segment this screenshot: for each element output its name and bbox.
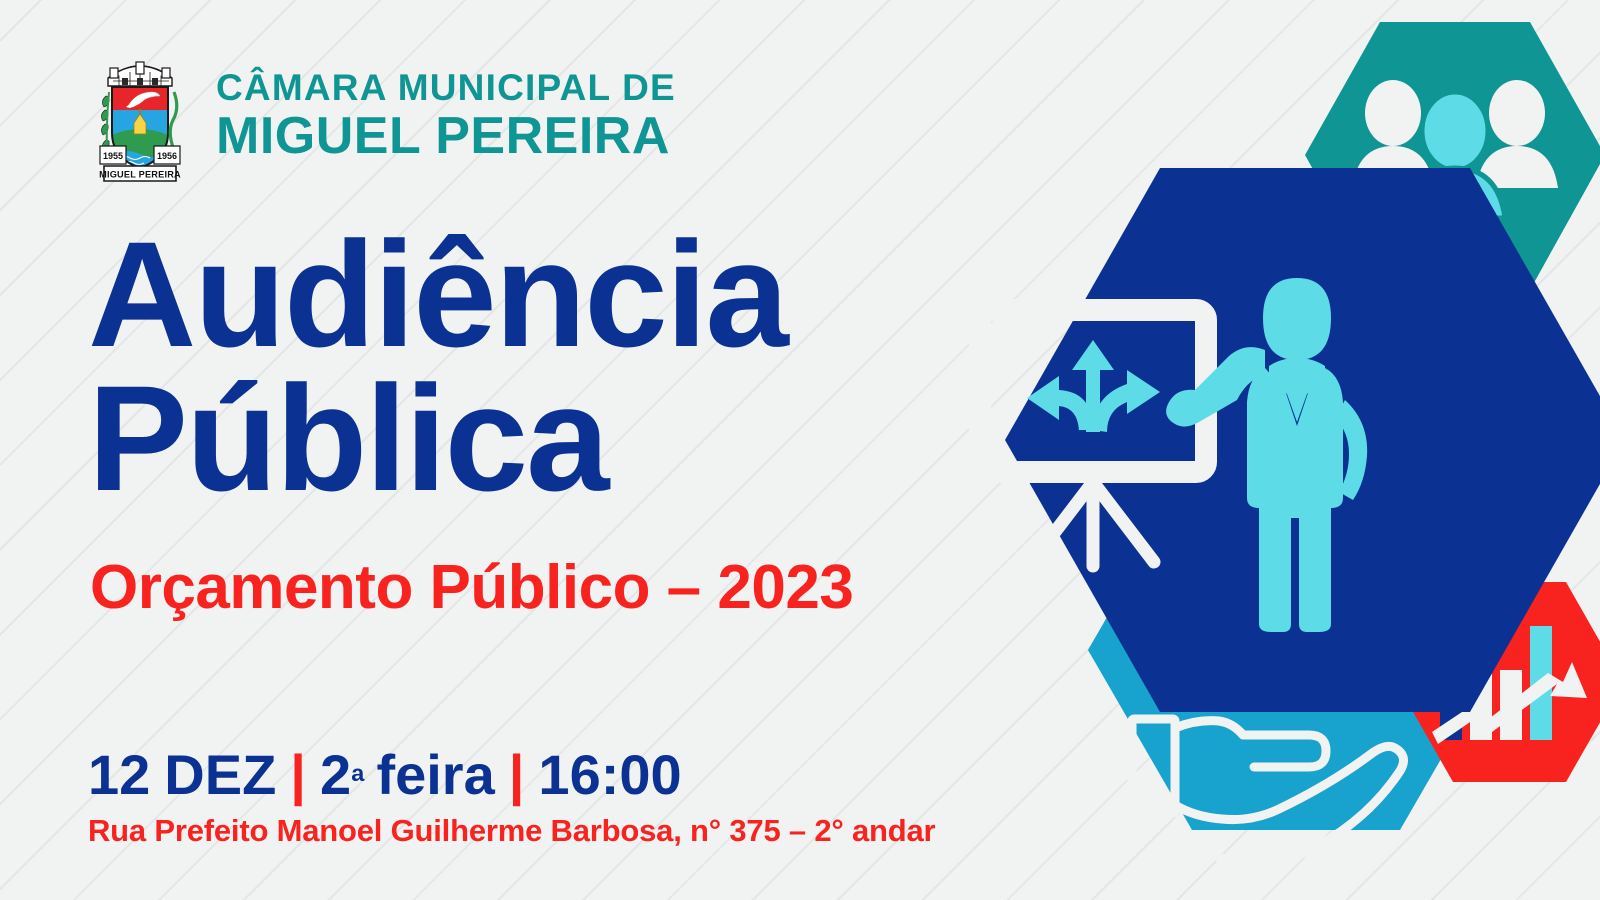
poster-canvas: 1955 1956 MIGUEL PEREIRA CÂMARA MUNICIPA… — [0, 0, 1600, 900]
event-address: Rua Prefeito Manoel Guilherme Barbosa, n… — [88, 813, 935, 849]
brand-header: 1955 1956 MIGUEL PEREIRA CÂMARA MUNICIPA… — [86, 48, 676, 182]
event-weekday-word: feira — [376, 742, 494, 807]
brand-line-2: MIGUEL PEREIRA — [216, 110, 676, 162]
event-day: 12 — [88, 742, 150, 807]
hexagon-presenter — [980, 168, 1600, 712]
separator-1: | — [290, 742, 306, 807]
event-month: DEZ — [164, 742, 276, 807]
brand-text-block: CÂMARA MUNICIPAL DE MIGUEL PEREIRA — [216, 69, 676, 162]
event-time: 16:00 — [538, 742, 681, 807]
subtitle: Orçamento Público – 2023 — [90, 552, 853, 623]
miguel-pereira-coat-of-arms-icon: 1955 1956 MIGUEL PEREIRA — [86, 48, 194, 182]
event-datetime: 12 DEZ | 2ª feira | 16:00 — [88, 742, 682, 807]
event-weekday-number: 2 — [320, 742, 351, 807]
crest-banner-text: MIGUEL PEREIRA — [99, 170, 181, 180]
separator-2: | — [509, 742, 525, 807]
headline-line-1: Audiência — [88, 210, 787, 378]
page-title: Audiência Pública — [88, 222, 787, 510]
brand-line-1: CÂMARA MUNICIPAL DE — [216, 69, 676, 106]
crest-year-right: 1956 — [157, 151, 177, 161]
crest-year-left: 1955 — [103, 151, 123, 161]
headline-line-2: Pública — [88, 366, 787, 510]
hexagon-artwork — [840, 0, 1600, 900]
event-weekday-ordinal: ª — [351, 761, 364, 803]
